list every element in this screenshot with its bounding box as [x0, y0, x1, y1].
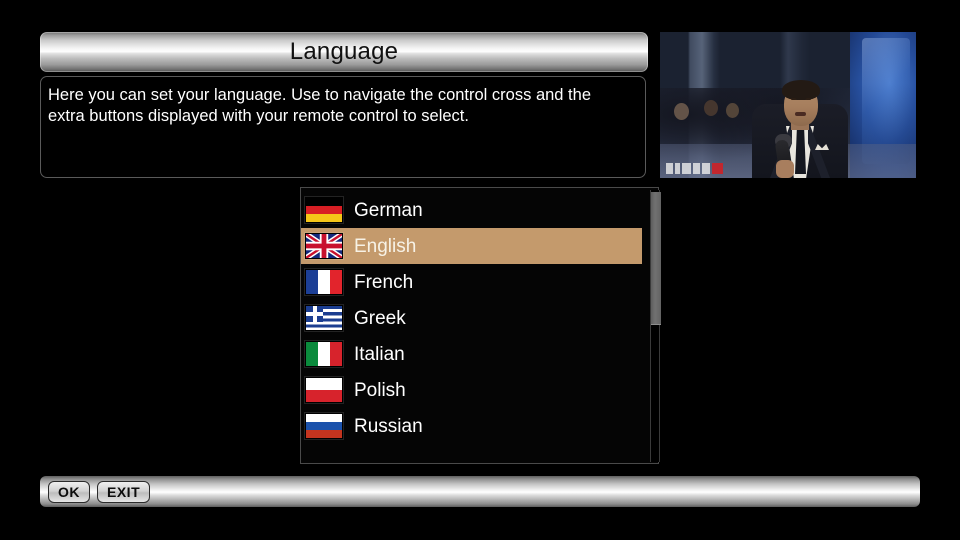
flag-germany-icon	[305, 197, 343, 223]
language-list: German English	[301, 192, 641, 452]
preview-reporter-eye	[791, 98, 796, 100]
list-item-polish[interactable]: Polish	[301, 372, 641, 408]
list-item-greek[interactable]: Greek	[301, 300, 641, 336]
list-item-label: French	[354, 273, 413, 292]
preview-reporter-hair	[782, 80, 820, 100]
list-item-label: Greek	[354, 309, 406, 328]
list-item-french[interactable]: French	[301, 264, 641, 300]
list-item-label: German	[354, 201, 423, 220]
description-text: Here you can set your language. Use to n…	[48, 85, 630, 127]
list-item-english[interactable]: English	[301, 228, 642, 264]
scrollbar-thumb[interactable]	[651, 192, 661, 325]
preview-reporter-mouth	[795, 112, 806, 116]
preview-reporter-eye	[806, 98, 811, 100]
flag-russia-icon	[305, 413, 343, 439]
list-item-label: Italian	[354, 345, 405, 364]
list-item-label: English	[354, 237, 416, 256]
preview-crowd-head	[704, 100, 718, 116]
language-list-scrollbar[interactable]	[650, 190, 660, 462]
broadcaster-logo-icon	[666, 162, 723, 174]
flag-greece-icon	[305, 305, 343, 331]
footer-button-bar: OK EXIT	[40, 476, 920, 507]
title-bar: Language	[40, 32, 648, 72]
live-tv-preview[interactable]	[660, 32, 916, 178]
preview-reporter-hand	[776, 160, 794, 178]
list-item-russian[interactable]: Russian	[301, 408, 641, 444]
preview-crowd-head	[726, 103, 739, 118]
ok-button[interactable]: OK	[48, 481, 90, 503]
list-item-german[interactable]: German	[301, 192, 641, 228]
list-item-label: Polish	[354, 381, 406, 400]
tv-settings-screen: Language Here you can set your language.…	[0, 0, 960, 540]
exit-button[interactable]: EXIT	[97, 481, 150, 503]
description-panel: Here you can set your language. Use to n…	[40, 76, 646, 178]
flag-poland-icon	[305, 377, 343, 403]
flag-italy-icon	[305, 341, 343, 367]
page-title: Language	[40, 32, 648, 72]
list-item-label: Russian	[354, 417, 423, 436]
list-item-italian[interactable]: Italian	[301, 336, 641, 372]
preview-crowd-head	[674, 103, 689, 120]
flag-united-kingdom-icon	[305, 233, 343, 259]
language-list-panel: German English	[300, 187, 659, 464]
flag-france-icon	[305, 269, 343, 295]
